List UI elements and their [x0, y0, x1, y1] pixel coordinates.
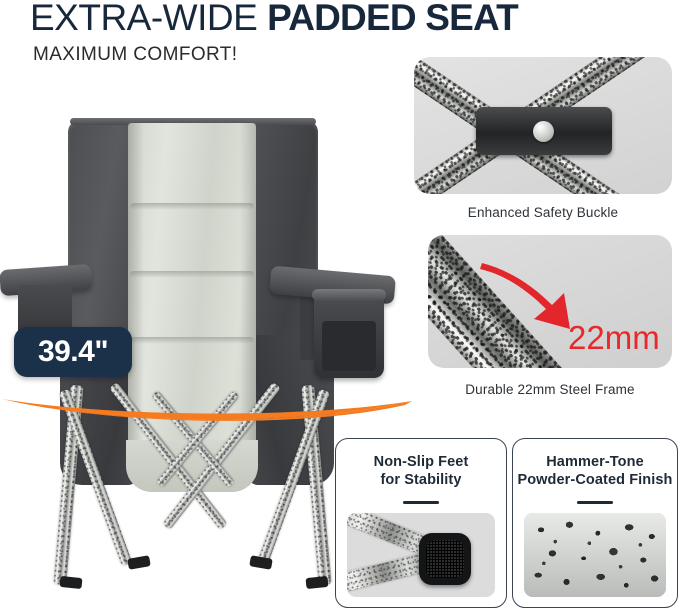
hammer-tone-finish-photo [524, 513, 666, 597]
speckled-finish-texture [524, 513, 666, 597]
title-divider [577, 501, 613, 504]
non-slip-foot-photo [347, 513, 495, 597]
pad-seam [130, 203, 254, 210]
safety-buckle-caption: Enhanced Safety Buckle [414, 205, 672, 220]
page-subtitle: MAXIMUM COMFORT! [33, 44, 237, 66]
pad-seam [130, 337, 254, 344]
title-bold-part: PADDED SEAT [267, 0, 518, 38]
right-arm-post [300, 290, 314, 360]
frame-thickness-callout: 22mm [568, 319, 660, 357]
chair-foot-rear-left [127, 555, 151, 570]
feature-card-hammer-tone-finish: Hammer-Tone Powder-Coated Finish [512, 438, 678, 608]
right-pocket-mesh [322, 321, 376, 371]
title-divider [403, 501, 439, 504]
page-title: EXTRA-WIDE PADDED SEAT [30, 0, 518, 38]
foot-grip-texture [426, 540, 464, 578]
feature-title-line2: Powder-Coated Finish [517, 472, 672, 488]
steel-frame-photo: 22mm [428, 235, 672, 368]
steel-frame-caption: Durable 22mm Steel Frame [414, 382, 679, 397]
feature-title-non-slip-feet: Non-Slip Feet for Stability [336, 453, 506, 489]
pad-seam [130, 271, 254, 278]
width-dimension-badge: 39.4" [14, 327, 132, 377]
buckle-rivet-icon [533, 121, 554, 142]
right-pocket-lip [312, 289, 386, 301]
chair-foot-left [59, 576, 82, 589]
chair-foot-right [305, 576, 328, 589]
title-light-part: EXTRA-WIDE [30, 0, 267, 38]
safety-buckle-photo [414, 57, 672, 194]
width-dimension-value: 39.4" [38, 335, 108, 369]
feature-title-line1: Hammer-Tone [546, 454, 644, 470]
feature-title-hammer-tone: Hammer-Tone Powder-Coated Finish [513, 453, 677, 489]
width-span-arrow [0, 381, 415, 427]
feature-card-non-slip-feet: Non-Slip Feet for Stability [335, 438, 507, 608]
feature-title-line2: for Stability [380, 472, 461, 488]
feature-title-line1: Non-Slip Feet [374, 454, 469, 470]
